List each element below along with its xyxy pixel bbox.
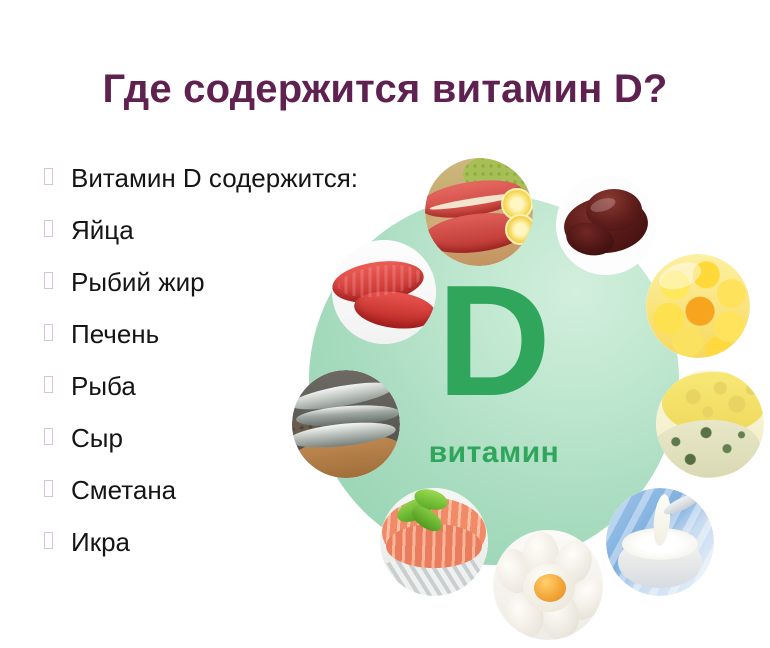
hollow-square-bullet-icon: [44, 376, 53, 393]
hollow-square-bullet-icon: [44, 220, 53, 237]
slide-canvas: Где содержится витамин D? Витамин D соде…: [0, 0, 770, 648]
list-item-label: Икра: [71, 516, 130, 568]
list-item-label: Печень: [71, 308, 159, 360]
fish-oil-capsules-icon: [646, 254, 750, 358]
list-item-label: Сыр: [71, 412, 123, 464]
liver-icon: [556, 175, 656, 275]
hollow-square-bullet-icon: [44, 428, 53, 445]
eggs-icon: [493, 530, 603, 640]
list-item-label: Рыбий жир: [71, 256, 205, 308]
list-item-label: Яйца: [71, 204, 134, 256]
raw-meat-icon: [332, 240, 436, 344]
hollow-square-bullet-icon: [44, 324, 53, 341]
sour-cream-icon: [606, 488, 714, 596]
hollow-square-bullet-icon: [44, 272, 53, 289]
page-title: Где содержится витамин D?: [0, 65, 770, 113]
cheese-icon: [656, 370, 764, 478]
hollow-square-bullet-icon: [44, 532, 53, 549]
beef-steak-lemon-icon: [425, 158, 533, 266]
liver-image: [556, 175, 656, 275]
beef-steak-lemon-image: [425, 158, 533, 266]
raw-meat-image: [332, 240, 436, 344]
list-item-label: Рыба: [71, 360, 136, 412]
salmon-steak-icon: [380, 488, 488, 596]
hollow-square-bullet-icon: [44, 168, 53, 185]
fish-oil-capsules-image: [646, 254, 750, 358]
sardines-icon: [292, 370, 400, 478]
sour-cream-image: [606, 488, 714, 596]
hollow-square-bullet-icon: [44, 480, 53, 497]
cheese-image: [656, 370, 764, 478]
list-item-label: Сметана: [71, 464, 176, 516]
sardines-image: [292, 370, 400, 478]
vitamin-d-food-wheel-graphic: D витамин: [288, 158, 770, 648]
salmon-steak-image: [380, 488, 488, 596]
eggs-image: [493, 530, 603, 640]
